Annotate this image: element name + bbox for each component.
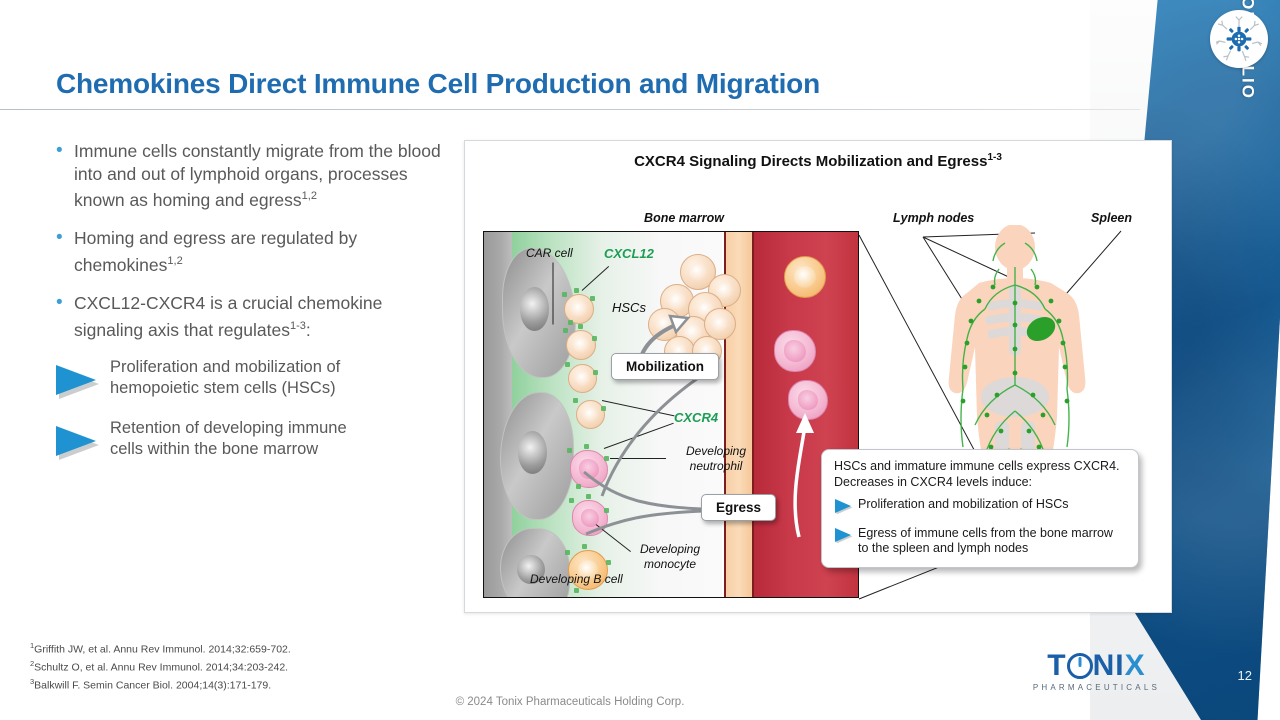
info-box-item-text: Egress of immune cells from the bone mar… <box>858 526 1113 556</box>
sub-bullet-item: Proliferation and mobilization of hemopo… <box>52 357 444 406</box>
bullet-marker: • <box>52 292 74 341</box>
page-number: 12 <box>1238 668 1252 683</box>
arrow-icon <box>834 497 858 519</box>
reference-list: 1Griffith JW, et al. Annu Rev Immunol. 2… <box>30 639 291 693</box>
bullet-list: • Immune cells constantly migrate from t… <box>52 140 444 479</box>
car-cell-nucleus <box>520 287 549 331</box>
circulating-neutrophil <box>774 330 816 372</box>
page-title: Chemokines Direct Immune Cell Production… <box>56 68 820 100</box>
mobilization-callout: Mobilization <box>611 353 719 380</box>
hsc-niche-cell <box>566 330 596 360</box>
immunology-badge <box>1210 10 1268 68</box>
sub-bullet-item: Retention of developing immune cells wit… <box>52 418 444 467</box>
tonix-wordmark: T NIX <box>1033 651 1160 681</box>
tonix-tagline: PHARMACEUTICALS <box>1033 683 1160 692</box>
bullet-item: • Homing and egress are regulated by che… <box>52 227 444 276</box>
label-bone-marrow: Bone marrow <box>619 211 749 225</box>
bullet-text: CXCL12-CXCR4 is a crucial chemokine sign… <box>74 292 444 341</box>
info-box-item-text: Proliferation and mobilization of HSCs <box>858 497 1069 512</box>
car-cell-nucleus <box>518 431 547 474</box>
egress-callout: Egress <box>701 494 776 521</box>
tonix-logo: T NIX PHARMACEUTICALS <box>1033 651 1160 692</box>
figure-panel: CXCR4 Signaling Directs Mobilization and… <box>464 140 1172 613</box>
bullet-item: • CXCL12-CXCR4 is a crucial chemokine si… <box>52 292 444 341</box>
bullet-text: Homing and egress are regulated by chemo… <box>74 227 444 276</box>
info-callout-box: HSCs and immature immune cells express C… <box>821 449 1139 568</box>
circulating-monocyte <box>784 256 826 298</box>
info-box-item: Egress of immune cells from the bone mar… <box>834 526 1126 556</box>
sub-bullet-list: Proliferation and mobilization of hemopo… <box>52 357 444 467</box>
label-cxcl12: CXCL12 <box>604 246 654 261</box>
leader-line-car-cell <box>553 263 554 325</box>
bullet-marker: • <box>52 227 74 276</box>
reference-item: 3Balkwill F. Semin Cancer Biol. 2004;14(… <box>30 675 291 693</box>
label-lymph-nodes: Lymph nodes <box>893 211 974 225</box>
info-box-heading: HSCs and immature immune cells express C… <box>834 459 1126 490</box>
label-car-cell: CAR cell <box>526 246 573 260</box>
info-box-item: Proliferation and mobilization of HSCs <box>834 497 1126 519</box>
arrow-icon <box>52 357 110 406</box>
label-developing-monocyte: Developing monocyte <box>624 542 716 572</box>
bullet-text: Immune cells constantly migrate from the… <box>74 140 444 211</box>
car-cell <box>500 392 574 520</box>
virus-antibody-icon <box>1216 16 1262 62</box>
figure-title: CXCR4 Signaling Directs Mobilization and… <box>465 152 1171 170</box>
egress-vessel-arrow-icon <box>783 411 823 541</box>
power-o-icon <box>1067 653 1093 679</box>
reference-item: 2Schultz O, et al. Annu Rev Immunol. 201… <box>30 657 291 675</box>
reference-item: 1Griffith JW, et al. Annu Rev Immunol. 2… <box>30 639 291 657</box>
bullet-marker: • <box>52 140 74 211</box>
sub-bullet-text: Retention of developing immune cells wit… <box>110 418 428 460</box>
arrow-icon <box>52 418 110 467</box>
arrow-icon <box>834 526 858 548</box>
label-spleen: Spleen <box>1091 211 1132 225</box>
car-cell <box>500 528 570 598</box>
sub-bullet-text: Proliferation and mobilization of hemopo… <box>110 357 428 399</box>
slide-canvas: IMMUNOLOGY PORTFOLIO 12 <box>0 0 1280 720</box>
mobilization-curve-icon <box>592 372 712 502</box>
bullet-item: • Immune cells constantly migrate from t… <box>52 140 444 211</box>
title-divider <box>0 109 1140 110</box>
label-developing-b-cell: Developing B cell <box>530 572 623 586</box>
copyright-notice: © 2024 Tonix Pharmaceuticals Holding Cor… <box>0 696 1140 708</box>
